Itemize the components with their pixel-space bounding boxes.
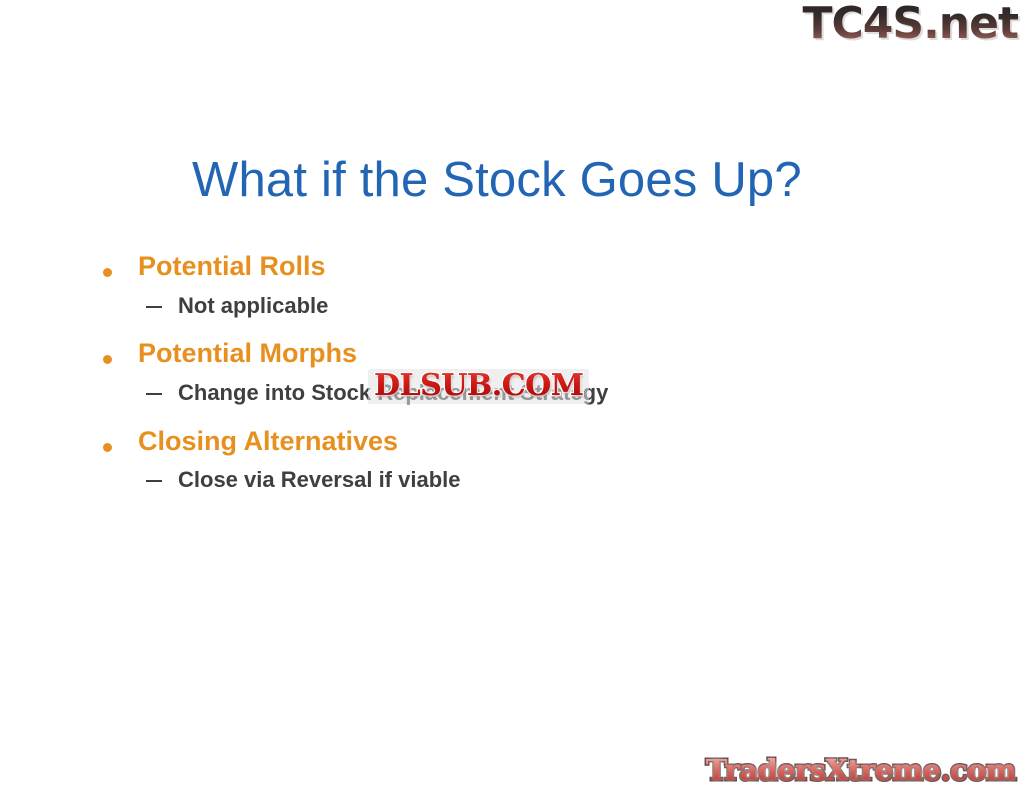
bullet-dash-icon: [146, 393, 162, 395]
bullet-dot-icon: [103, 355, 112, 364]
bullet-level1-label: Potential Morphs: [138, 338, 357, 368]
bullet-level1-label: Potential Rolls: [138, 251, 326, 281]
bullet-level2-label: Not applicable: [178, 293, 328, 318]
bullet-group: Closing Alternatives Close via Reversal …: [0, 427, 1024, 492]
bullet-level1: Potential Rolls: [0, 252, 1024, 281]
presentation-slide: TC4S.net TC4S.net What if the Stock Goes…: [0, 0, 1024, 791]
bullet-level2-label: Close via Reversal if viable: [178, 467, 461, 492]
dlsub-watermark-text: DLSUB.COM: [368, 369, 589, 404]
bullet-level1-label: Closing Alternatives: [138, 426, 398, 456]
bullet-level1: Potential Morphs: [0, 339, 1024, 368]
bullet-level1: Closing Alternatives: [0, 427, 1024, 456]
bullet-dot-icon: [103, 268, 112, 277]
bullet-level2: Not applicable: [0, 294, 1024, 318]
slide-title: What if the Stock Goes Up?: [192, 152, 802, 208]
brand-logo-text: TC4S.net: [802, 2, 1018, 46]
site-logo-text: TradersXtreme.com: [706, 756, 1016, 785]
bullet-dash-icon: [146, 480, 162, 482]
bullet-group: Potential Rolls Not applicable: [0, 252, 1024, 317]
bullet-dash-icon: [146, 306, 162, 308]
bullet-dot-icon: [103, 443, 112, 452]
bullet-level2: Close via Reversal if viable: [0, 468, 1024, 492]
